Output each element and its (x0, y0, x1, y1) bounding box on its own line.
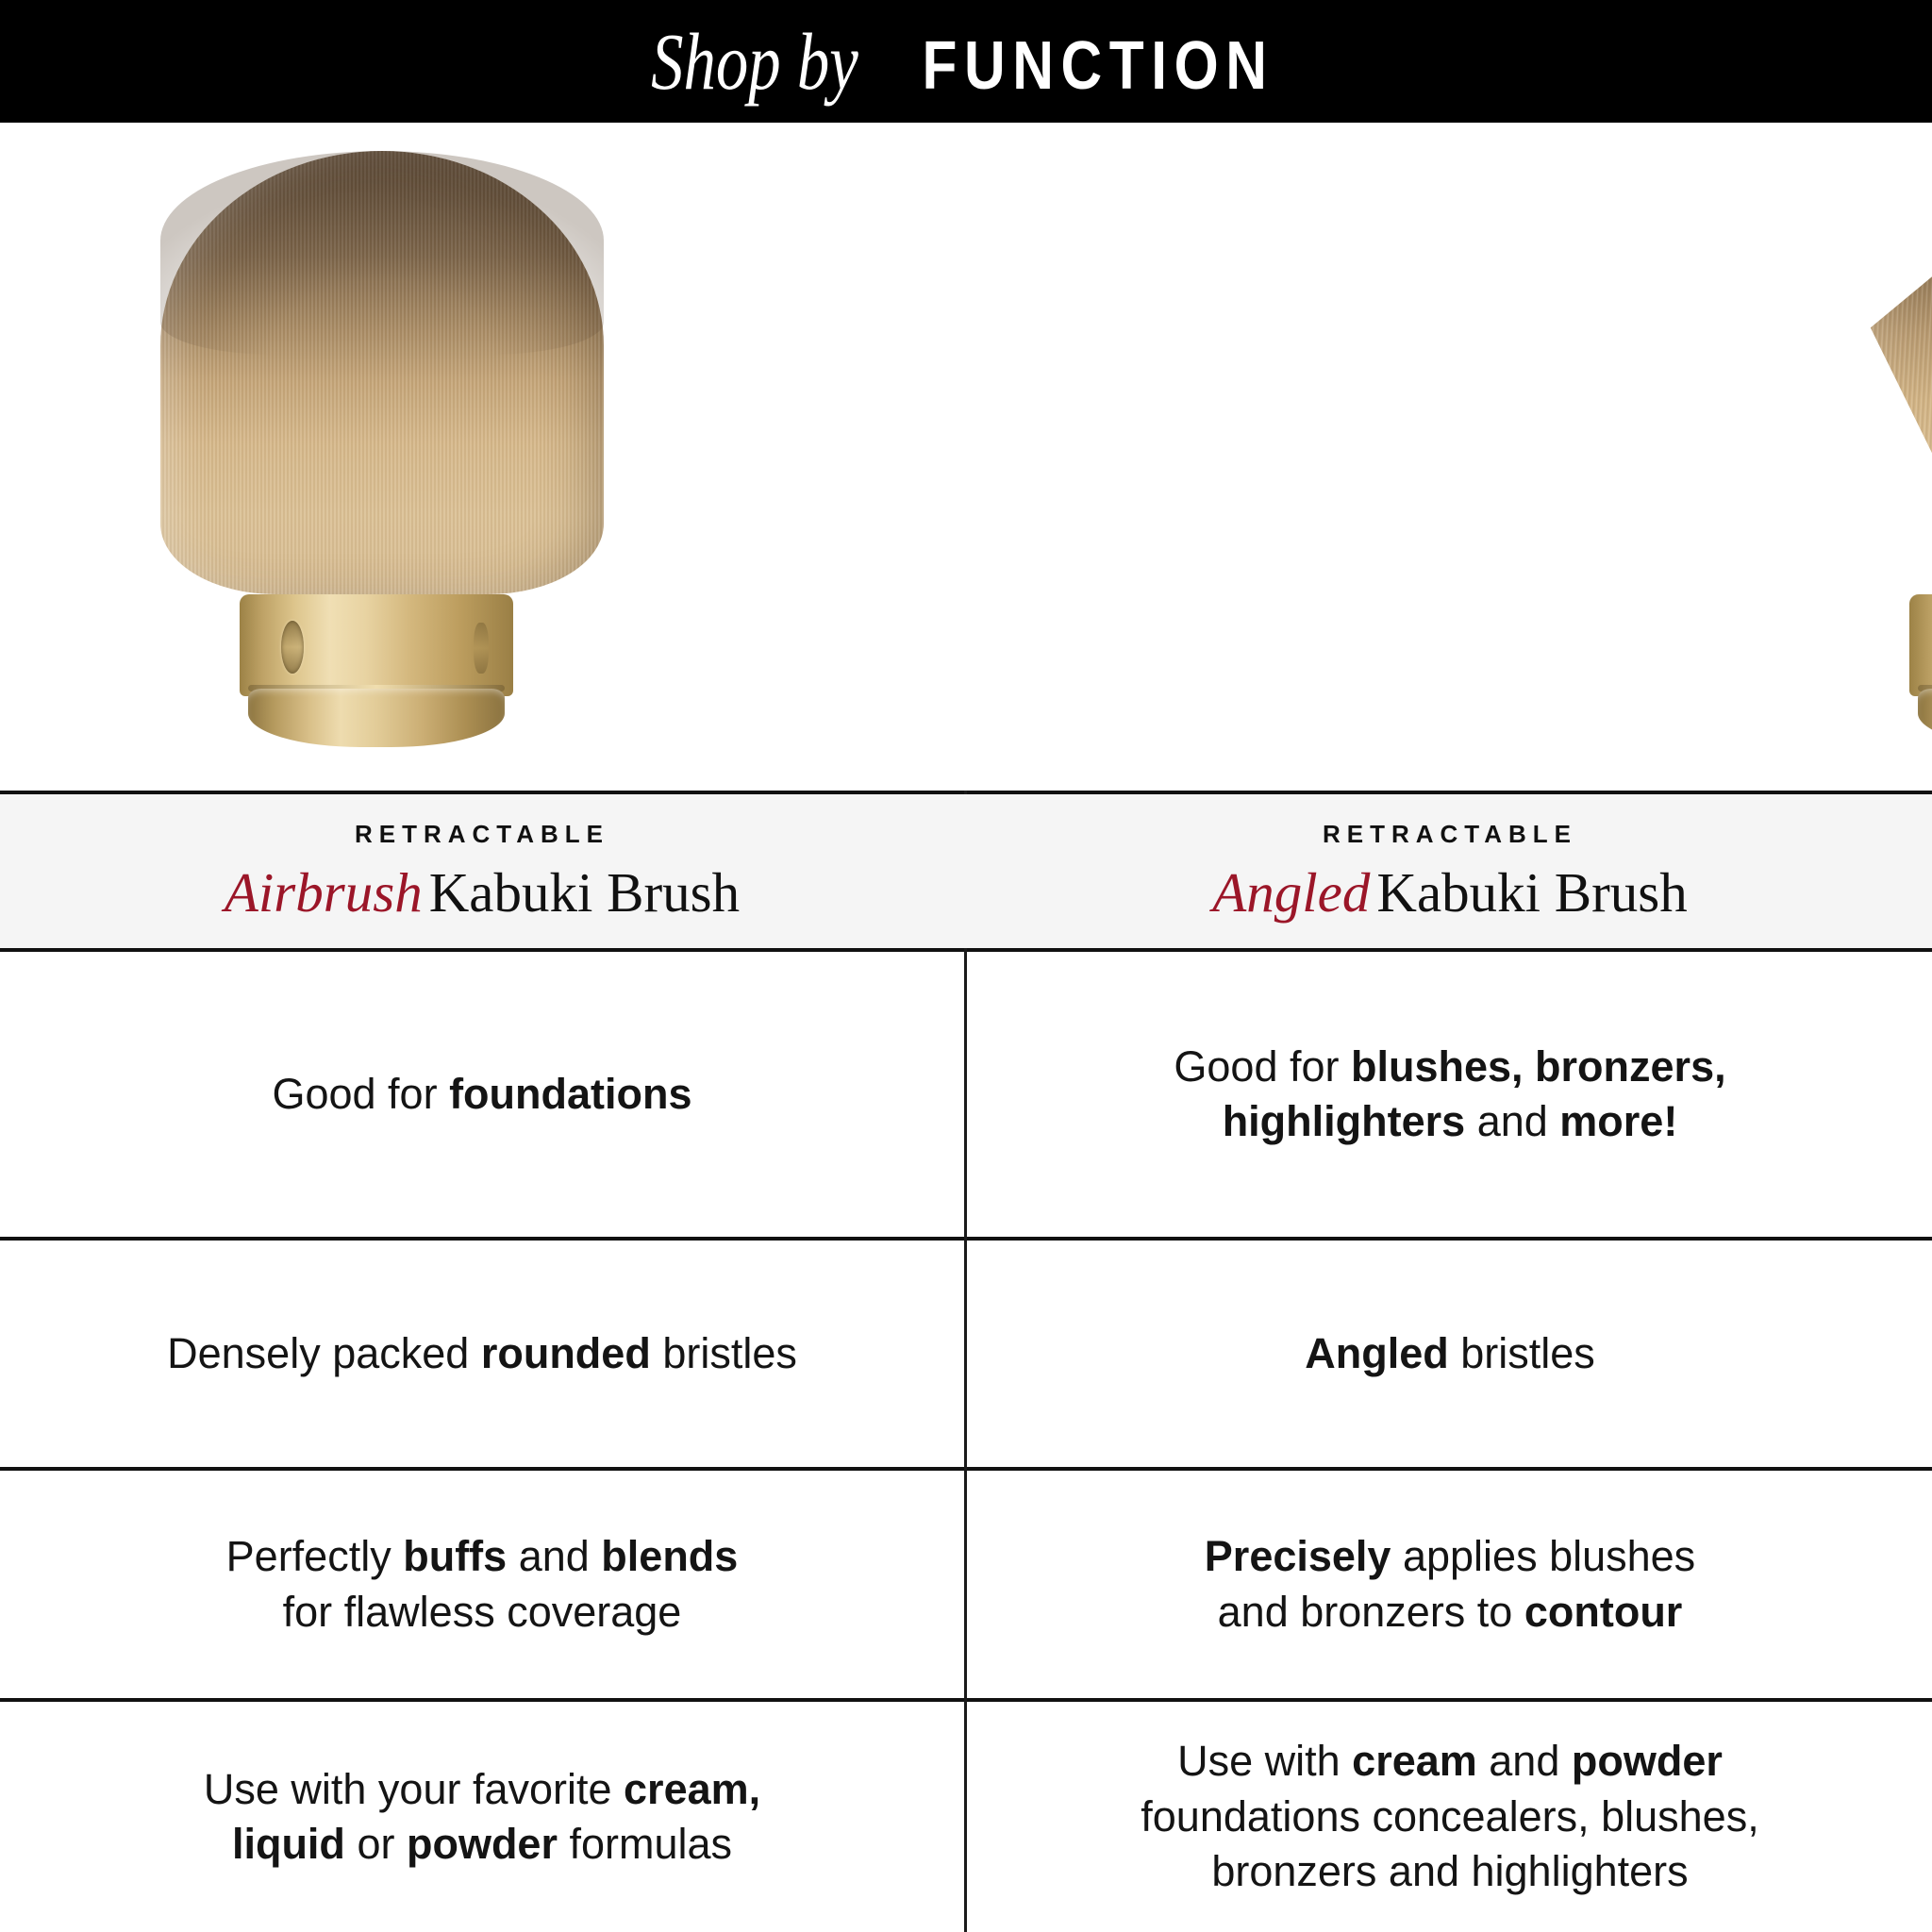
product-name-rest-left: Kabuki Brush (429, 861, 740, 924)
feature-text: Use with cream and powderfoundations con… (1141, 1734, 1758, 1900)
ferrule-base-collar (1918, 689, 1932, 747)
bristle-head-rounded-icon (160, 151, 604, 594)
comparison-cell-right: Angled bristles (968, 1241, 1932, 1467)
page-header-banner: Shop by FUNCTION (0, 0, 1932, 123)
comparison-cell-left: Densely packed rounded bristles (0, 1241, 964, 1467)
comparison-row: Good for foundations Good for blushes, b… (0, 952, 1932, 1237)
feature-text: Good for foundations (272, 1067, 691, 1123)
comparison-table: RETRACTABLE AirbrushKabuki Brush RETRACT… (0, 791, 1932, 1932)
product-name-highlight-right: Angled (1212, 861, 1376, 924)
comparison-row: Densely packed rounded bristles Angled b… (0, 1241, 1932, 1467)
comparison-cell-right: Good for blushes, bronzers,highlighters … (968, 952, 1932, 1237)
feature-text: Use with your favorite cream,liquid or p… (204, 1762, 760, 1873)
shop-by-function-comparison-page: Shop by FUNCTION (0, 0, 1932, 1932)
bristle-head-angled-shape (1853, 158, 1932, 526)
product-name-left: AirbrushKabuki Brush (225, 864, 740, 923)
gold-ferrule-left (240, 594, 513, 755)
product-eyebrow-left: RETRACTABLE (355, 820, 609, 849)
product-eyebrow-right: RETRACTABLE (1323, 820, 1577, 849)
product-title-cell-left[interactable]: RETRACTABLE AirbrushKabuki Brush (0, 794, 964, 948)
product-name-highlight-left: Airbrush (225, 861, 429, 924)
feature-text: Perfectly buffs and blendsfor flawless c… (226, 1529, 739, 1640)
feature-text: Good for blushes, bronzers,highlighters … (1174, 1040, 1725, 1150)
bristle-head-angled-icon (1890, 149, 1932, 621)
ferrule-notch-icon (474, 623, 489, 674)
bristle-fiber-texture (1853, 158, 1932, 526)
comparison-cell-right: Precisely applies blushesand bronzers to… (968, 1471, 1932, 1698)
ferrule-pin-icon (281, 621, 304, 674)
feature-text: Densely packed rounded bristles (167, 1326, 797, 1382)
comparison-cell-left: Perfectly buffs and blendsfor flawless c… (0, 1471, 964, 1698)
gold-ferrule-right (1909, 594, 1932, 755)
page-title: Shop by FUNCTION (625, 21, 1308, 102)
product-photo-airbrush-kabuki[interactable] (0, 123, 966, 791)
product-title-row: RETRACTABLE AirbrushKabuki Brush RETRACT… (0, 794, 1932, 948)
page-title-script-part: Shop by (651, 21, 863, 102)
product-title-cell-right[interactable]: RETRACTABLE AngledKabuki Brush (968, 794, 1932, 948)
feature-text: Angled bristles (1305, 1326, 1595, 1382)
feature-text: Precisely applies blushesand bronzers to… (1205, 1529, 1695, 1640)
comparison-row: Use with your favorite cream,liquid or p… (0, 1702, 1932, 1932)
bristle-tip-shading (160, 151, 604, 355)
comparison-cell-left: Good for foundations (0, 952, 964, 1237)
ferrule-band (1909, 594, 1932, 696)
ferrule-base-collar (248, 689, 506, 747)
product-image-strip (0, 123, 1932, 791)
product-name-right: AngledKabuki Brush (1212, 864, 1688, 923)
product-photo-angled-kabuki[interactable] (966, 123, 1932, 791)
product-name-rest-right: Kabuki Brush (1376, 861, 1687, 924)
comparison-cell-left: Use with your favorite cream,liquid or p… (0, 1702, 964, 1932)
comparison-row: Perfectly buffs and blendsfor flawless c… (0, 1471, 1932, 1698)
comparison-cell-right: Use with cream and powderfoundations con… (968, 1702, 1932, 1932)
page-title-sans-part: FUNCTION (923, 32, 1274, 100)
